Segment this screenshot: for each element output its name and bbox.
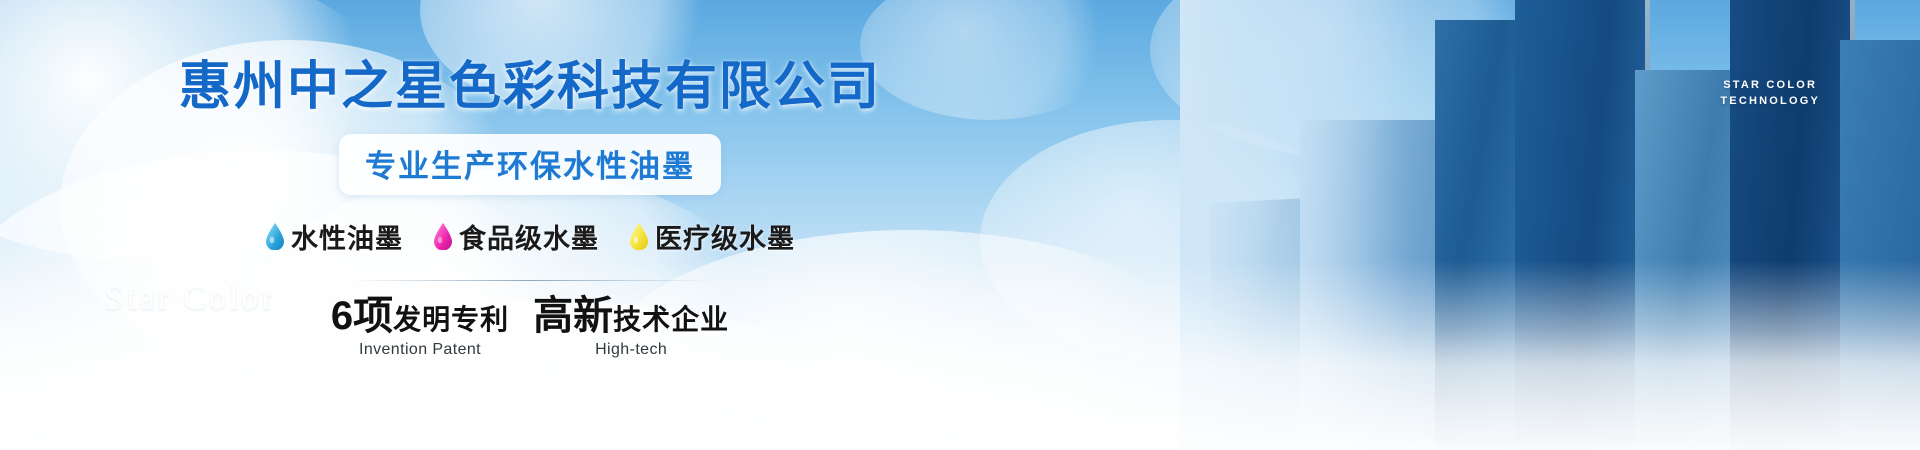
badge-highlight: 高新 [533,294,613,338]
banner-content: 惠州中之星色彩科技有限公司 专业生产环保水性油墨 水性油墨 [0,0,1060,450]
list-item: 医疗级水墨 [629,217,795,256]
badge-chinese: 高新技术企业 [533,295,729,337]
water-drop-icon [433,223,453,250]
list-item-label: 水性油墨 [291,217,403,256]
page-title: 惠州中之星色彩科技有限公司 [0,58,1060,118]
brandmark-line-1: STAR COLOR [1720,78,1820,94]
list-item: 水性油墨 [265,217,403,256]
brandmark-line-2: TECHNOLOGY [1720,94,1820,110]
list-item-label: 食品级水墨 [459,217,599,256]
badge-english: High-tech [533,341,729,359]
badge-suffix: 发明专利 [393,304,509,335]
slogan-pill: 专业生产环保水性油墨 [339,134,721,195]
list-item-label: 医疗级水墨 [655,217,795,256]
skyline-photo [1180,0,1920,450]
badge-english: Invention Patent [331,341,509,359]
list-item: 食品级水墨 [433,217,599,256]
badge-chinese: 6项发明专利 [331,295,509,337]
status-badge: 6项发明专利 Invention Patent [331,295,509,359]
brandmark: STAR COLOR TECHNOLOGY [1720,78,1820,110]
water-drop-icon [629,223,649,250]
feature-list: 水性油墨 食品级水墨 [0,217,1060,256]
promo-banner: STAR COLOR TECHNOLOGY Star Color 惠州中之星色彩… [0,0,1920,450]
badge-highlight: 6项 [331,294,393,338]
divider [350,280,710,281]
water-drop-icon [265,223,285,250]
badge-suffix: 技术企业 [613,304,729,335]
status-badge: 高新技术企业 High-tech [533,295,729,359]
skyline-left-fade [1180,0,1410,450]
badge-row: 6项发明专利 Invention Patent 高新技术企业 High-tech [0,295,1060,359]
